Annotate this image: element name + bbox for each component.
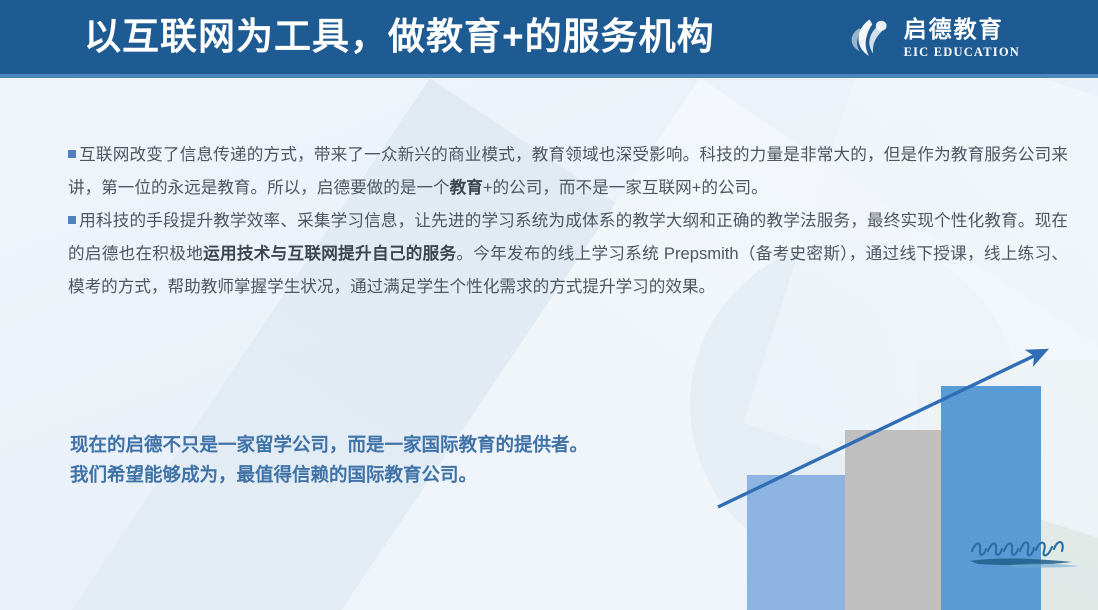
logo-english-name: EIC EDUCATION xyxy=(904,46,1020,59)
paragraph-2: 用科技的手段提升教学效率、采集学习信息，让先进的学习系统为成体系的教学大纲和正确… xyxy=(68,204,1068,303)
eic-swirl-logo-icon xyxy=(848,16,892,60)
paragraph-1: 互联网改变了信息传递的方式，带来了一众新兴的商业模式，教育领域也深受影响。科技的… xyxy=(68,138,1068,204)
body-text-block: 互联网改变了信息传递的方式，带来了一众新兴的商业模式，教育领域也深受影响。科技的… xyxy=(68,138,1068,303)
emphasized-text: 教育 xyxy=(450,178,483,197)
paragraph-bullet-icon xyxy=(68,150,76,158)
brand-logo: 启德教育 EIC EDUCATION xyxy=(848,16,1020,60)
closing-statement: 现在的启德不只是一家留学公司，而是一家国际教育的提供者。 我们希望能够成为，最值… xyxy=(70,430,730,490)
page-title: 以互联网为工具，做教育+的服务机构 xyxy=(84,12,715,62)
logo-chinese-name: 启德教育 xyxy=(904,18,1020,41)
body-text-run: +的公司，而不是一家互联网+的公司。 xyxy=(483,178,768,197)
header-bar: 以互联网为工具，做教育+的服务机构 启德教育 EIC EDUCATION xyxy=(0,0,1098,74)
header-accent-rule xyxy=(0,74,1098,78)
closing-statement-line-2: 我们希望能够成为，最值得信赖的国际教育公司。 xyxy=(70,460,730,490)
paragraph-bullet-icon xyxy=(68,216,76,224)
growth-bar-chart xyxy=(700,330,1098,610)
logo-wordmark: 启德教育 EIC EDUCATION xyxy=(904,18,1020,59)
emphasized-text: 运用技术与互联网提升自己的服务 xyxy=(203,244,456,263)
slide: 以互联网为工具，做教育+的服务机构 启德教育 EIC EDUCATION 互联网… xyxy=(0,0,1098,610)
closing-statement-line-1: 现在的启德不只是一家留学公司，而是一家国际教育的提供者。 xyxy=(70,430,730,460)
trend-arrow-icon xyxy=(700,330,1098,610)
